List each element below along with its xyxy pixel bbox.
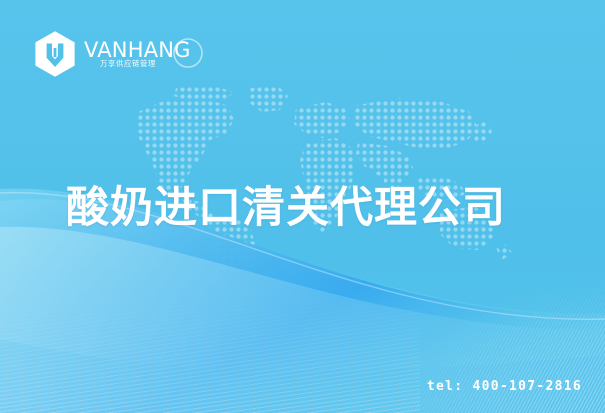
contact-phone[interactable]: tel: 400-107-2816 [427,379,582,394]
brand-logo[interactable]: VANHANG 万享供应链管理 [33,30,206,78]
promo-banner: VANHANG 万享供应链管理 VANHANG 万享供应链管理 酸奶进口清关代理… [0,0,605,413]
vanhang-hexagon-u-mark-icon [33,30,77,78]
brand-wordmark: VANHANG 万享供应链管理 [84,37,206,71]
page-title: 酸奶进口清关代理公司 [66,183,506,234]
wordmark-subtitle: 万享供应链管理 [100,59,156,68]
